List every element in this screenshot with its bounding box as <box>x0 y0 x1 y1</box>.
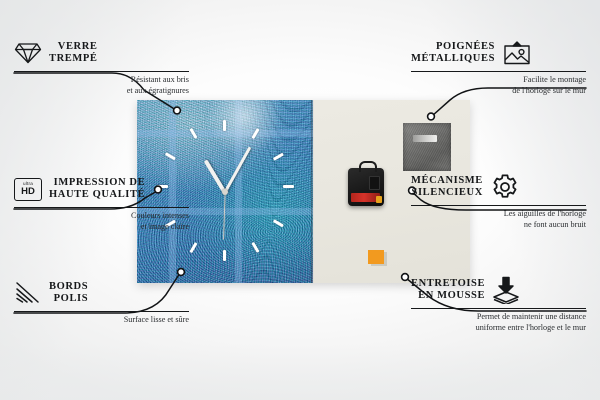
clock-tick <box>223 120 226 131</box>
callout-title: MÉCANISME SILENCIEUX <box>411 175 483 200</box>
ultra-hd-badge-icon: ultra HD <box>14 178 42 201</box>
callout-poignees-metalliques[interactable]: POIGNÉES MÉTALLIQUES Facilite le montage… <box>411 38 586 96</box>
callout-title: ENTRETOISE EN MOUSSE <box>411 278 485 303</box>
infographic-canvas: VERRE TREMPÉ Résistant aux bris et aux é… <box>0 0 600 400</box>
callout-description: Facilite le montage de l'horloge sur le … <box>411 75 586 95</box>
callout-header: POIGNÉES MÉTALLIQUES <box>411 38 586 68</box>
mechanism-chip <box>369 176 380 190</box>
callout-entretoise-en-mousse[interactable]: ENTRETOISE EN MOUSSE Permet de maintenir… <box>411 275 586 333</box>
highlight-glow <box>204 100 285 159</box>
callout-description: Permet de maintenir une distance uniform… <box>411 312 586 332</box>
callout-bords-polis[interactable]: BORDS POLIS Surface lisse et sûre <box>14 278 189 326</box>
polished-edges-icon <box>14 281 42 305</box>
callout-divider <box>14 71 189 72</box>
diamond-icon <box>14 42 42 64</box>
gear-icon <box>490 173 520 201</box>
callout-divider <box>411 205 586 206</box>
foam-spacer-arrow-icon <box>492 276 520 304</box>
callout-description: Les aiguilles de l'horloge ne font aucun… <box>411 209 586 229</box>
callout-divider <box>411 308 586 309</box>
picture-hanger-icon <box>502 41 532 65</box>
callout-divider <box>14 207 189 208</box>
callout-header: IMPRESSION DE HAUTE QUALITÉ ultra HD <box>14 174 189 204</box>
clock-hand-hub <box>222 189 228 195</box>
callout-description: Résistant aux bris et aux égratignures <box>14 75 189 95</box>
callout-description: Couleurs intenses et image claire <box>14 211 189 231</box>
hanger-loop <box>359 161 377 172</box>
callout-header: MÉCANISME SILENCIEUX <box>411 172 586 202</box>
callout-impression-haute-qualite[interactable]: IMPRESSION DE HAUTE QUALITÉ ultra HD Cou… <box>14 174 189 232</box>
callout-header: ENTRETOISE EN MOUSSE <box>411 275 586 305</box>
hanger-slot <box>413 135 437 142</box>
callout-verre-trempe[interactable]: VERRE TREMPÉ Résistant aux bris et aux é… <box>14 38 189 96</box>
callout-divider <box>411 71 586 72</box>
callout-divider <box>14 311 189 312</box>
ultra-hd-badge-large-text: HD <box>21 187 35 197</box>
callout-header: VERRE TREMPÉ <box>14 38 189 68</box>
callout-mecanisme-silencieux[interactable]: MÉCANISME SILENCIEUX Les aiguilles de l'… <box>411 172 586 230</box>
callout-title: IMPRESSION DE HAUTE QUALITÉ <box>49 177 145 202</box>
battery-terminal <box>376 196 382 203</box>
callout-description: Surface lisse et sûre <box>14 315 189 325</box>
clock-tick <box>223 250 226 261</box>
callout-title: POIGNÉES MÉTALLIQUES <box>411 41 495 66</box>
foam-spacer <box>368 250 384 264</box>
callout-title: VERRE TREMPÉ <box>49 41 98 66</box>
metal-hanging-plate <box>403 123 451 171</box>
callout-header: BORDS POLIS <box>14 278 189 308</box>
clock-tick <box>283 185 294 188</box>
panel-seam <box>311 100 314 283</box>
clock-mechanism <box>348 168 384 206</box>
callout-title: BORDS POLIS <box>49 281 88 306</box>
